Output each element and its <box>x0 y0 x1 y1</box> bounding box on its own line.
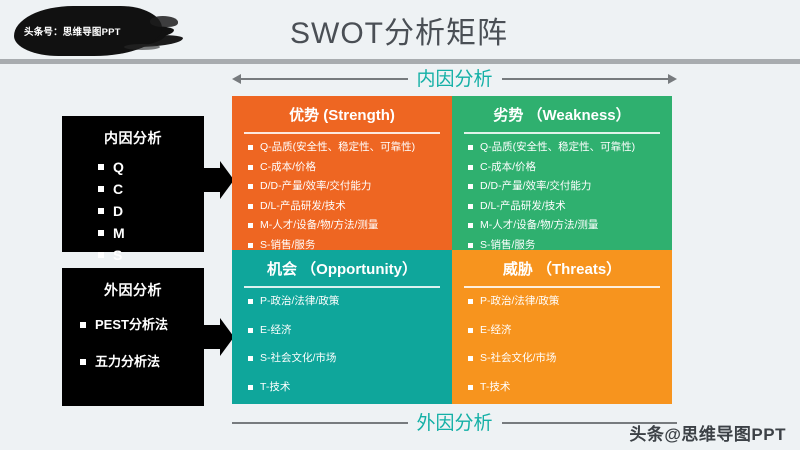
list-item-label: T-技术 <box>260 381 290 394</box>
list-item: T-技术 <box>468 381 662 394</box>
quadrant-strength-list: Q-品质(安全性、稳定性、可靠性) C-成本/价格 D/D-产量/效率/交付能力… <box>242 141 442 250</box>
quadrant-strength-heading: 优势 (Strength) <box>242 96 442 132</box>
square-bullet-icon <box>248 243 253 248</box>
list-item-label: S-社会文化/市场 <box>480 352 556 365</box>
quadrant-threats-heading: 威胁 （Threats） <box>462 250 662 286</box>
list-item: E-经济 <box>468 324 662 337</box>
square-bullet-icon <box>468 184 473 189</box>
slide-canvas: 头条号：思维导图PPT SWOT分析矩阵 内因分析 内因分析 Q C D <box>0 0 800 450</box>
list-item: T-技术 <box>248 381 442 394</box>
quadrant-divider <box>464 132 660 134</box>
list-item: M-人才/设备/物/方法/测量 <box>248 219 442 232</box>
square-bullet-icon <box>248 299 253 304</box>
list-item: D <box>98 204 204 218</box>
axis-line-left <box>232 422 408 424</box>
external-panel-list: PEST分析法 五力分析法 <box>62 318 204 368</box>
list-item: S-销售/服务 <box>248 239 442 250</box>
square-bullet-icon <box>468 243 473 248</box>
list-item-label: C <box>113 182 123 196</box>
internal-factor-axis: 内因分析 <box>232 68 677 90</box>
arrow-shaft <box>200 168 221 192</box>
top-watermark-text: 头条号：思维导图PPT <box>24 24 121 38</box>
external-panel-title: 外因分析 <box>62 280 204 300</box>
axis-bottom-label: 外因分析 <box>408 414 502 433</box>
list-item-label: C-成本/价格 <box>260 161 316 174</box>
arrow-left-icon <box>232 74 241 84</box>
list-item-label: Q <box>113 160 124 174</box>
footer-watermark: 头条@思维导图PPT <box>629 420 786 445</box>
square-bullet-icon <box>248 204 253 209</box>
list-item-label: T-技术 <box>480 381 510 394</box>
square-bullet-icon <box>248 165 253 170</box>
quadrant-weakness-list: Q-品质(安全性、稳定性、可靠性) C-成本/价格 D/D-产量/效率/交付能力… <box>462 141 662 250</box>
quadrant-opportunity-list: P-政治/法律/政策 E-经济 S-社会文化/市场 T-技术 <box>242 295 442 393</box>
list-item: 五力分析法 <box>80 355 204 368</box>
axis-line-left <box>241 78 408 80</box>
list-item-label: D/D-产量/效率/交付能力 <box>260 180 371 193</box>
axis-line-right <box>502 78 669 80</box>
list-item-label: 五力分析法 <box>95 355 160 368</box>
swot-matrix: 优势 (Strength) Q-品质(安全性、稳定性、可靠性) C-成本/价格 … <box>232 96 672 404</box>
list-item-label: Q-品质(安全性、稳定性、可靠性) <box>260 141 415 154</box>
square-bullet-icon <box>248 184 253 189</box>
list-item: Q <box>98 160 204 174</box>
list-item: S <box>98 248 204 262</box>
brush-stroke-decoration <box>150 16 178 27</box>
square-bullet-icon <box>468 385 473 390</box>
header-divider <box>0 59 800 64</box>
quadrant-divider <box>244 286 440 288</box>
square-bullet-icon <box>468 165 473 170</box>
square-bullet-icon <box>248 223 253 228</box>
list-item: Q-品质(安全性、稳定性、可靠性) <box>248 141 442 154</box>
list-item-label: D/L-产品研发/技术 <box>260 200 346 213</box>
external-factor-panel: 外因分析 PEST分析法 五力分析法 <box>62 268 204 406</box>
arrow-right-icon <box>668 74 677 84</box>
arrow-shaft <box>200 325 221 349</box>
list-item-label: C-成本/价格 <box>480 161 536 174</box>
list-item-label: D <box>113 204 123 218</box>
square-bullet-icon <box>80 322 86 328</box>
internal-panel-title: 内因分析 <box>62 128 204 148</box>
square-bullet-icon <box>468 145 473 150</box>
quadrant-opportunity: 机会 （Opportunity） P-政治/法律/政策 E-经济 S-社会文化/… <box>232 250 452 404</box>
square-bullet-icon <box>98 208 104 214</box>
quadrant-weakness: 劣势 （Weakness） Q-品质(安全性、稳定性、可靠性) C-成本/价格 … <box>452 96 672 250</box>
list-item: D/D-产量/效率/交付能力 <box>248 180 442 193</box>
list-item-label: M <box>113 226 125 240</box>
list-item: M-人才/设备/物/方法/测量 <box>468 219 662 232</box>
square-bullet-icon <box>98 230 104 236</box>
list-item: PEST分析法 <box>80 318 204 331</box>
list-item: D/L-产品研发/技术 <box>468 200 662 213</box>
square-bullet-icon <box>98 186 104 192</box>
square-bullet-icon <box>248 385 253 390</box>
quadrant-divider <box>464 286 660 288</box>
square-bullet-icon <box>468 299 473 304</box>
list-item-label: S-社会文化/市场 <box>260 352 336 365</box>
list-item-label: E-经济 <box>260 324 292 337</box>
list-item: S-销售/服务 <box>468 239 662 250</box>
list-item: C-成本/价格 <box>468 161 662 174</box>
list-item: C-成本/价格 <box>248 161 442 174</box>
list-item-label: M-人才/设备/物/方法/测量 <box>260 219 378 232</box>
list-item: M <box>98 226 204 240</box>
square-bullet-icon <box>80 359 86 365</box>
list-item-label: PEST分析法 <box>95 318 168 331</box>
quadrant-divider <box>244 132 440 134</box>
square-bullet-icon <box>248 145 253 150</box>
square-bullet-icon <box>468 356 473 361</box>
brush-stroke-decoration-2 <box>124 44 160 50</box>
square-bullet-icon <box>248 356 253 361</box>
list-item: S-社会文化/市场 <box>468 352 662 365</box>
list-item-label: D/D-产量/效率/交付能力 <box>480 180 591 193</box>
square-bullet-icon <box>468 328 473 333</box>
external-factor-axis: 外因分析 <box>232 412 677 434</box>
square-bullet-icon <box>98 252 104 258</box>
quadrant-threats-list: P-政治/法律/政策 E-经济 S-社会文化/市场 T-技术 <box>462 295 662 393</box>
internal-factor-panel: 内因分析 Q C D M S <box>62 116 204 252</box>
axis-top-label: 内因分析 <box>408 70 502 89</box>
list-item-label: E-经济 <box>480 324 512 337</box>
page-title: SWOT分析矩阵 <box>290 8 508 52</box>
connector-arrow-lower-icon <box>200 318 234 356</box>
list-item: D/D-产量/效率/交付能力 <box>468 180 662 193</box>
list-item-label: S-销售/服务 <box>480 239 535 250</box>
list-item: D/L-产品研发/技术 <box>248 200 442 213</box>
list-item-label: P-政治/法律/政策 <box>480 295 559 308</box>
list-item-label: S-销售/服务 <box>260 239 315 250</box>
square-bullet-icon <box>248 328 253 333</box>
list-item-label: D/L-产品研发/技术 <box>480 200 566 213</box>
list-item-label: M-人才/设备/物/方法/测量 <box>480 219 598 232</box>
square-bullet-icon <box>468 223 473 228</box>
list-item: P-政治/法律/政策 <box>468 295 662 308</box>
quadrant-weakness-heading: 劣势 （Weakness） <box>462 96 662 132</box>
list-item: P-政治/法律/政策 <box>248 295 442 308</box>
list-item-label: Q-品质(安全性、稳定性、可靠性) <box>480 141 635 154</box>
list-item-label: P-政治/法律/政策 <box>260 295 339 308</box>
list-item: Q-品质(安全性、稳定性、可靠性) <box>468 141 662 154</box>
list-item: S-社会文化/市场 <box>248 352 442 365</box>
list-item: E-经济 <box>248 324 442 337</box>
connector-arrow-upper-icon <box>200 161 234 199</box>
quadrant-opportunity-heading: 机会 （Opportunity） <box>242 250 442 286</box>
list-item-label: S <box>113 248 122 262</box>
square-bullet-icon <box>468 204 473 209</box>
internal-panel-list: Q C D M S <box>62 160 204 262</box>
quadrant-strength: 优势 (Strength) Q-品质(安全性、稳定性、可靠性) C-成本/价格 … <box>232 96 452 250</box>
list-item: C <box>98 182 204 196</box>
square-bullet-icon <box>98 164 104 170</box>
quadrant-threats: 威胁 （Threats） P-政治/法律/政策 E-经济 S-社会文化/市场 T… <box>452 250 672 404</box>
